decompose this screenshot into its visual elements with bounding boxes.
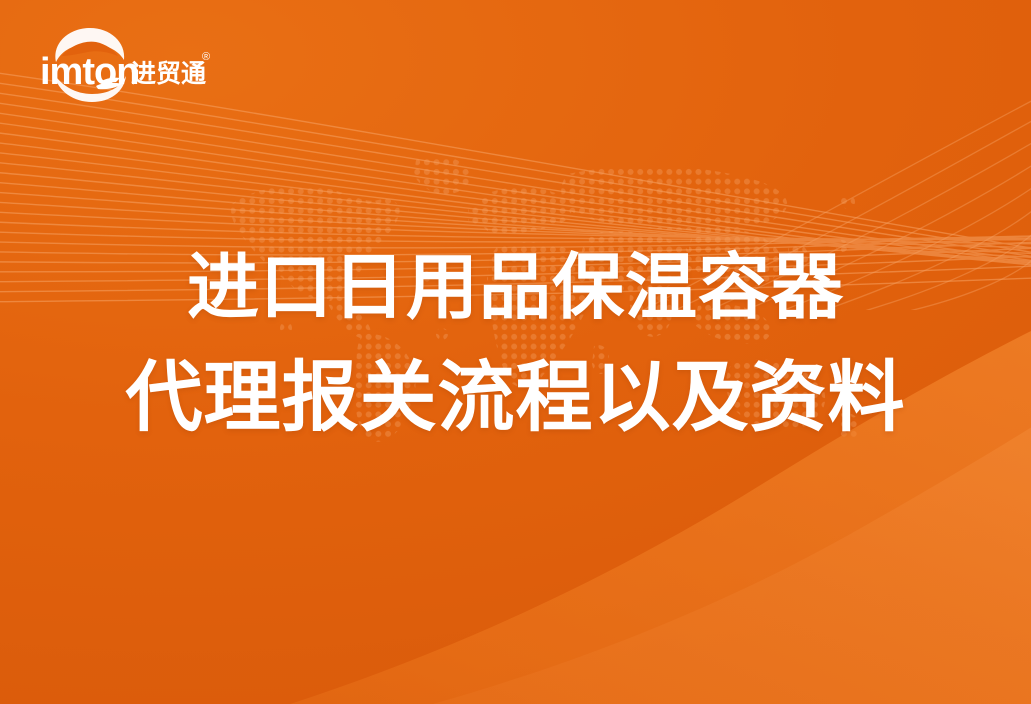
headline-line-1: 进口日用品保温容器 <box>0 252 1031 324</box>
headline-line-2: 代理报关流程以及资料 <box>0 360 1031 437</box>
logo-chinese-name: 进贸通 <box>131 60 206 88</box>
headline-block: 进口日用品保温容器 代理报关流程以及资料 <box>0 252 1031 437</box>
poster-canvas: imton 进贸通 ® 进口日用品保温容器 代理报关流程以及资料 <box>0 0 1031 704</box>
logo-wordmark: imton <box>40 51 138 93</box>
registered-trademark-icon: ® <box>202 51 210 63</box>
brand-logo[interactable]: imton 进贸通 ® <box>38 26 216 104</box>
